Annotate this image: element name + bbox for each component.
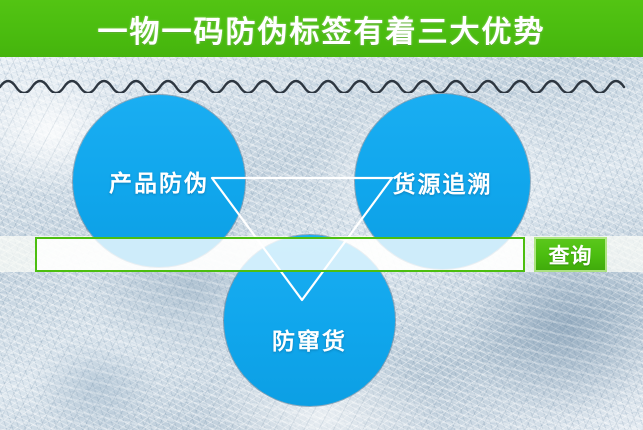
search-submit-button[interactable]: 查询 bbox=[534, 237, 607, 272]
search-row: 查询 bbox=[35, 237, 607, 272]
page-title: 一物一码防伪标签有着三大优势 bbox=[0, 0, 643, 57]
advantage-label: 产品防伪 bbox=[109, 164, 209, 198]
wavy-torn-edge bbox=[0, 57, 643, 93]
advantage-label: 货源追溯 bbox=[393, 165, 493, 199]
advantage-label: 防窜货 bbox=[272, 322, 347, 356]
promo-banner-page: 一物一码防伪标签有着三大优势 产品防伪 货源追溯 防窜货 查询 bbox=[0, 0, 643, 430]
search-input[interactable] bbox=[35, 237, 525, 272]
header-banner: 一物一码防伪标签有着三大优势 bbox=[0, 0, 643, 57]
